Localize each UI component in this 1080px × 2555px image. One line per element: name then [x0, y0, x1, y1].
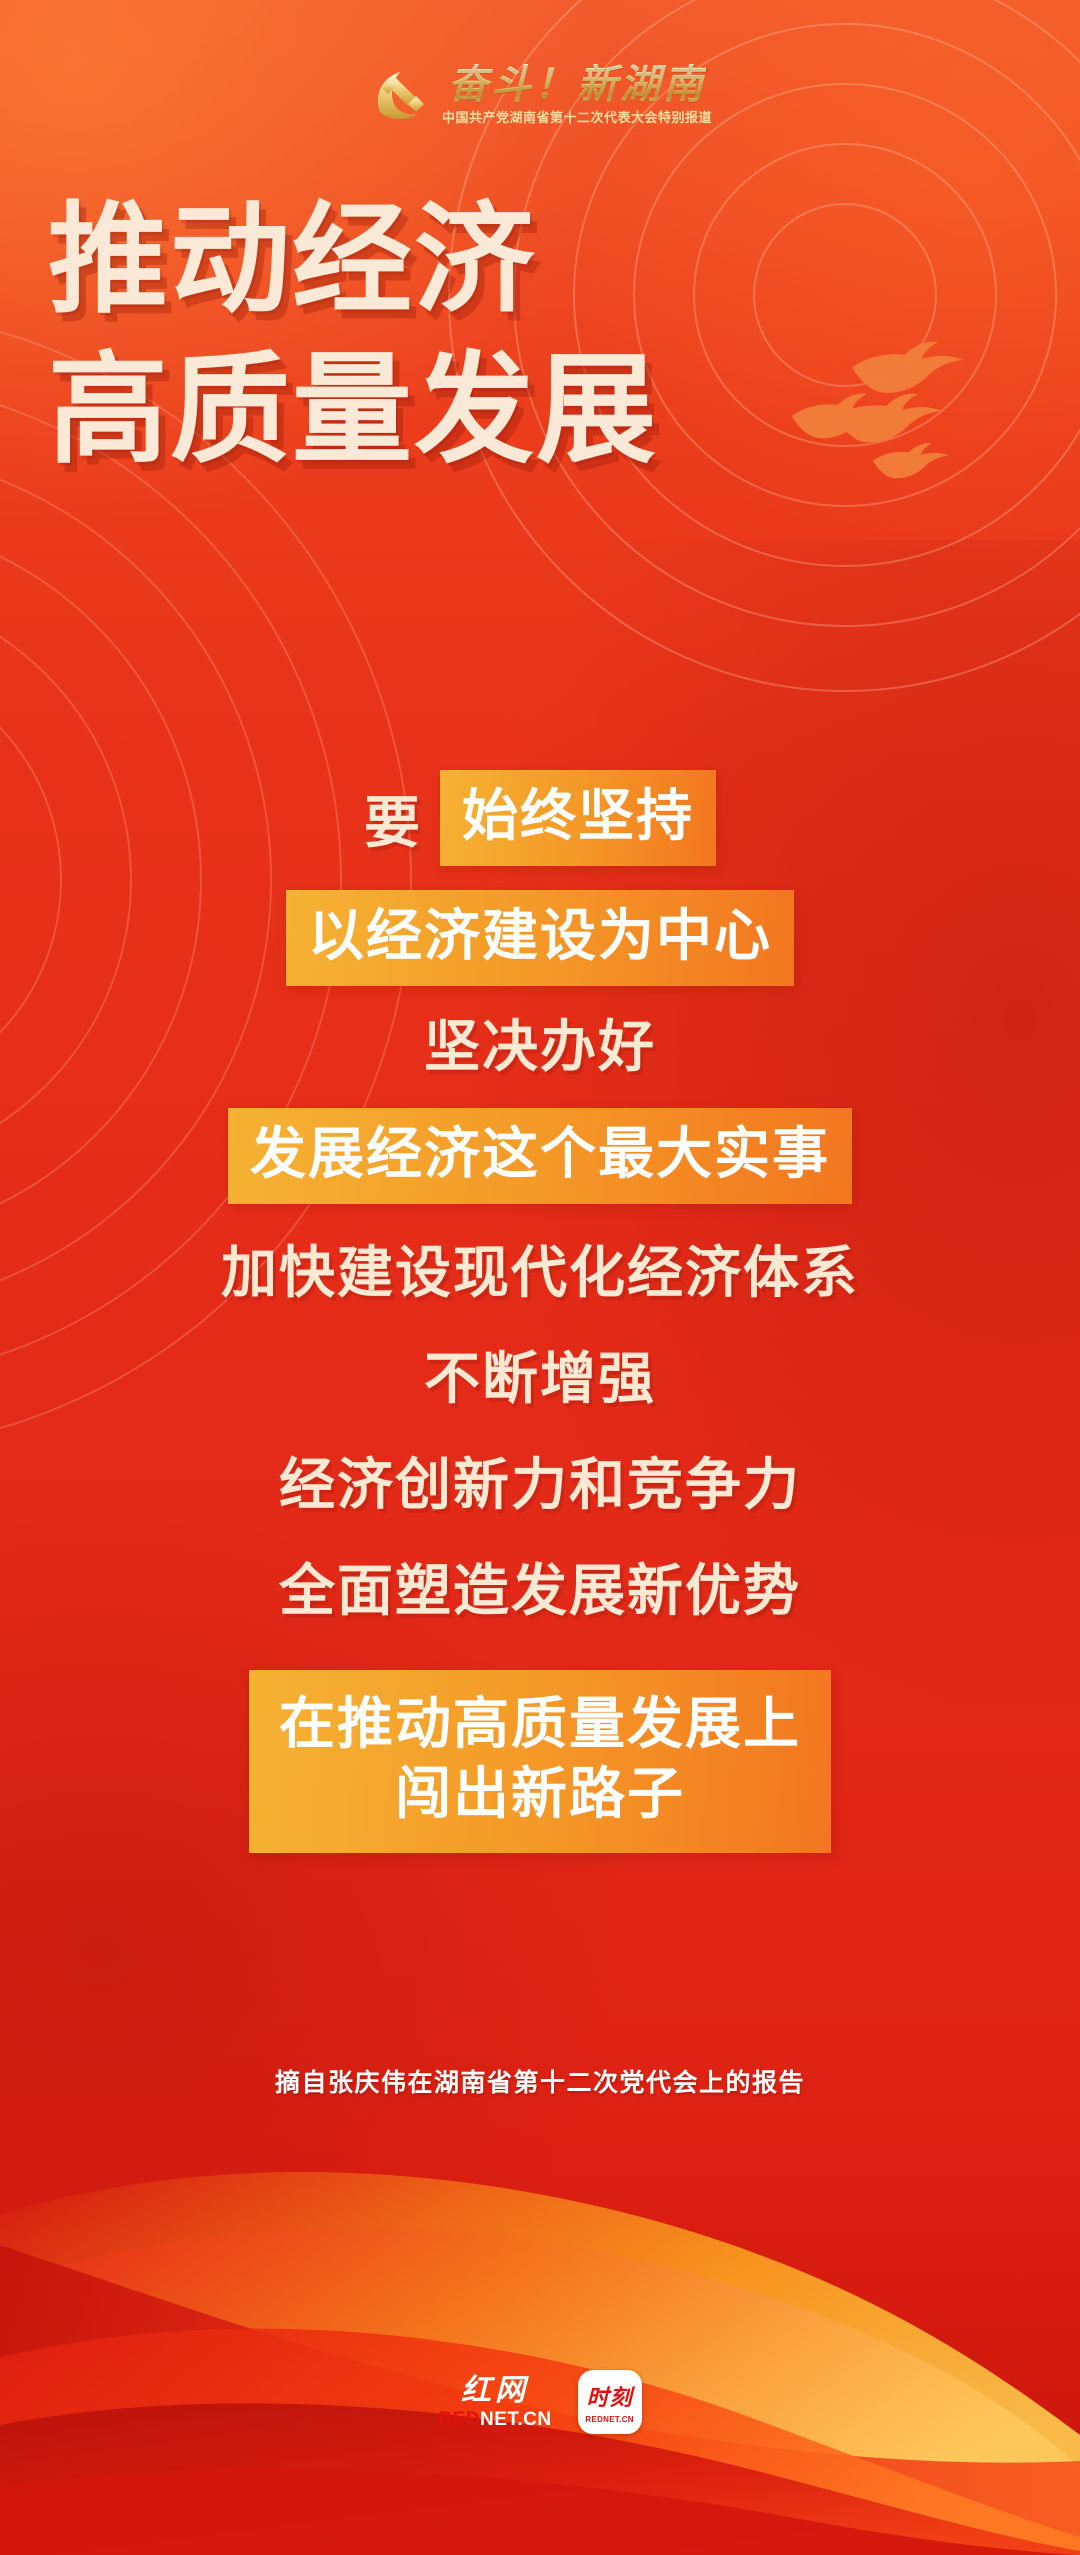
statement-row: 以经济建设为中心 [286, 890, 794, 986]
statement-highlight: 始终坚持 [440, 770, 716, 866]
statement-text: 坚决办好 [424, 1002, 656, 1092]
hammer-and-sickle-emblem [368, 64, 430, 126]
statement-row: 在推动高质量发展上 闯出新路子 [249, 1670, 831, 1853]
statement-highlight: 发展经济这个最大实事 [228, 1108, 852, 1204]
poster-root: 奋斗！新湖南 中国共产党湖南省第十二次代表大会特别报道 推动经济 高质量发展 要… [0, 0, 1080, 2555]
rednet-logo-en-red: RED [438, 2409, 480, 2430]
statement-highlight-two-line: 在推动高质量发展上 闯出新路子 [249, 1670, 831, 1853]
statement-highlight-line-2: 闯出新路子 [395, 1762, 685, 1826]
statement-highlight-line-1: 在推动高质量发展上 [279, 1692, 801, 1756]
shike-app-icon[interactable]: 时刻 REDNET.CN [578, 2370, 642, 2434]
statement-text: 加快建设现代化经济体系 [221, 1228, 859, 1318]
title-line-1: 推动经济 [48, 190, 768, 330]
source-credit: 摘自张庆伟在湖南省第十二次党代会上的报告 [0, 2063, 1080, 2099]
shike-app-icon-en: REDNET.CN [585, 2415, 633, 2424]
rednet-logo-en: REDNET.CN [438, 2410, 551, 2429]
statement-list: 要 始终坚持 以经济建设为中心 坚决办好 发展经济这个最大实事 加快建设现代化经… [0, 770, 1080, 1853]
brand-subtitle: 中国共产党湖南省第十二次代表大会特别报道 [442, 109, 712, 127]
header-logo-block: 奋斗！新湖南 中国共产党湖南省第十二次代表大会特别报道 [0, 52, 1080, 138]
shike-app-icon-cn: 时刻 [587, 2380, 633, 2412]
statement-row: 加快建设现代化经济体系 [221, 1228, 859, 1318]
statement-row: 经济创新力和竞争力 [279, 1440, 801, 1530]
footer-logos: 红网 REDNET.CN 时刻 REDNET.CN [0, 2370, 1080, 2434]
page-title: 推动经济 高质量发展 [48, 190, 768, 480]
statement-row: 全面塑造发展新优势 [279, 1546, 801, 1636]
statement-text: 经济创新力和竞争力 [279, 1440, 801, 1530]
flying-doves-decor [770, 300, 1070, 560]
rednet-logo-en-white: NET.CN [480, 2409, 552, 2430]
statement-text: 全面塑造发展新优势 [279, 1546, 801, 1636]
title-line-2: 高质量发展 [48, 340, 768, 480]
statement-highlight: 以经济建设为中心 [286, 890, 794, 986]
ribbon-waves-decor [0, 2095, 1080, 2555]
statement-text: 不断增强 [424, 1334, 656, 1424]
header-text-block: 奋斗！新湖南 中国共产党湖南省第十二次代表大会特别报道 [442, 64, 712, 127]
rednet-logo-cn: 红网 [461, 2376, 529, 2406]
statement-row: 坚决办好 [424, 1002, 656, 1092]
statement-row: 发展经济这个最大实事 [228, 1108, 852, 1204]
statement-lead: 要 [364, 778, 422, 859]
statement-row: 要 始终坚持 [364, 770, 716, 866]
rednet-logo[interactable]: 红网 REDNET.CN [438, 2376, 551, 2429]
brand-calligraphy: 奋斗！新湖南 [448, 64, 706, 106]
statement-row: 不断增强 [424, 1334, 656, 1424]
